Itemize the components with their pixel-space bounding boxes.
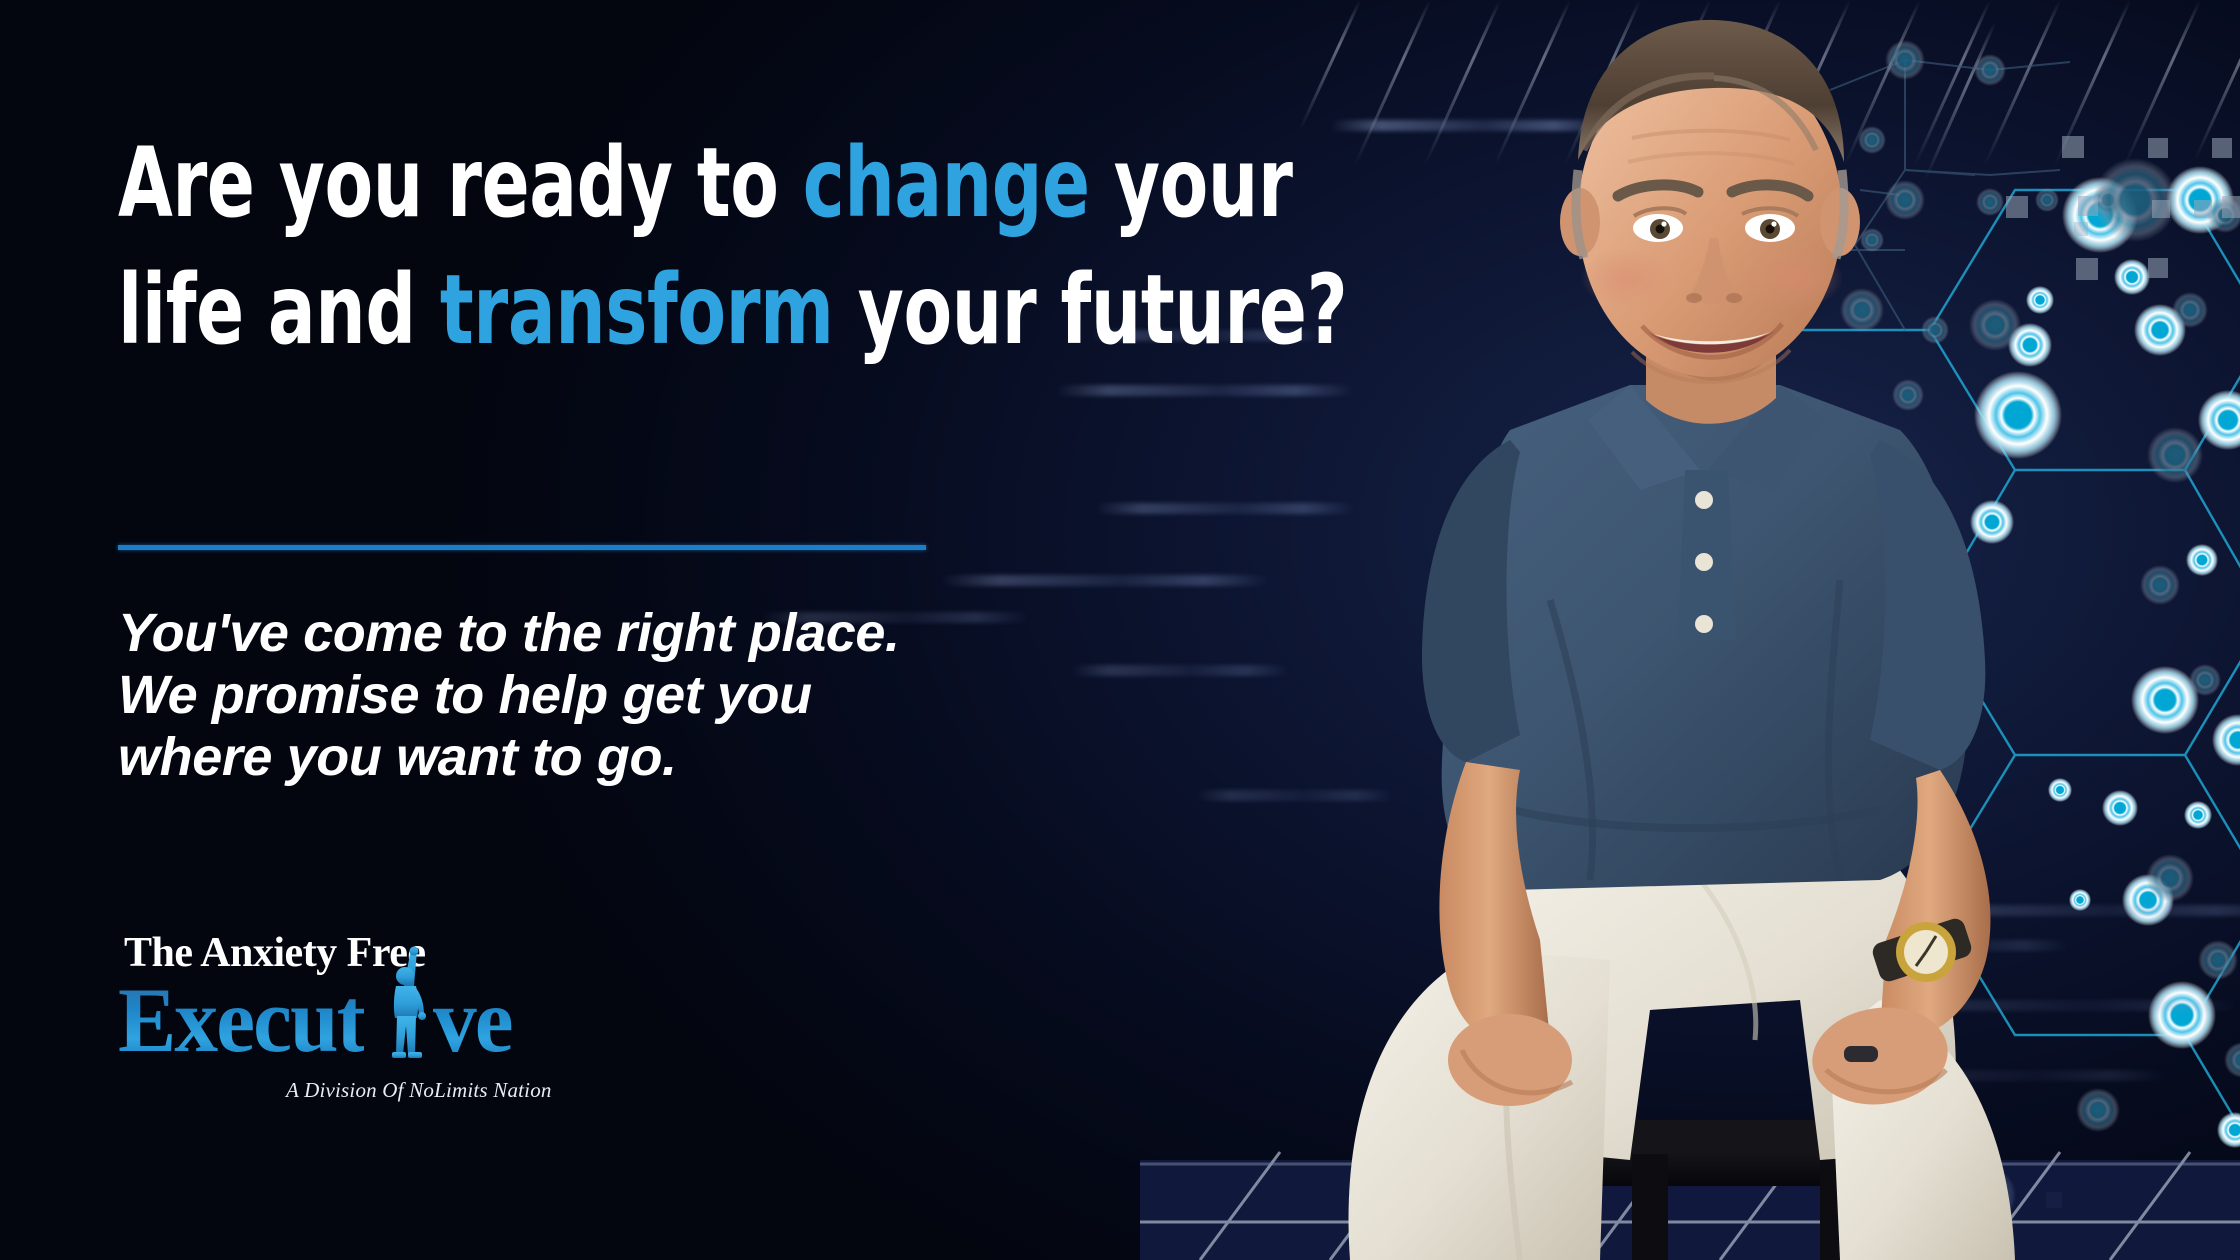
subheading-line-2: We promise to help get you <box>118 664 1078 726</box>
standing-person-arm-raised-icon <box>374 946 436 1066</box>
headline-line1-part2: your <box>1090 127 1293 239</box>
headline-line1-part1: Are you ready to <box>118 127 803 239</box>
headline: Are you ready to change your life and tr… <box>118 120 954 373</box>
promotional-banner: Are you ready to change your life and tr… <box>0 0 2240 1260</box>
headline-line2-part2: your future? <box>834 254 1348 366</box>
ring <box>1844 1046 1878 1062</box>
head <box>1560 20 1860 382</box>
divider-rule <box>118 545 926 550</box>
logo-tagline: A Division Of NoLimits Nation <box>286 1078 552 1103</box>
subheading: You've come to the right place. We promi… <box>118 602 1078 788</box>
subheading-line-3: where you want to go. <box>118 726 1078 788</box>
portrait-photo <box>1180 0 2240 1260</box>
subheading-line-1: You've come to the right place. <box>118 602 1078 664</box>
headline-accent-change: change <box>803 127 1090 239</box>
headline-accent-transform: transform <box>440 254 834 366</box>
logo-wordmark: Executve <box>118 978 638 1062</box>
logo-word-after: ve <box>433 978 512 1062</box>
text-content-block: Are you ready to change your life and tr… <box>118 0 1158 1260</box>
headline-line-2: life and transform your future? <box>118 247 954 374</box>
headline-line2-part1: life and <box>118 254 440 366</box>
headline-line-1: Are you ready to change your <box>118 120 954 247</box>
logo-word-before: Execut <box>118 978 364 1062</box>
brand-logo[interactable]: The Anxiety Free Executve <box>118 932 638 1062</box>
